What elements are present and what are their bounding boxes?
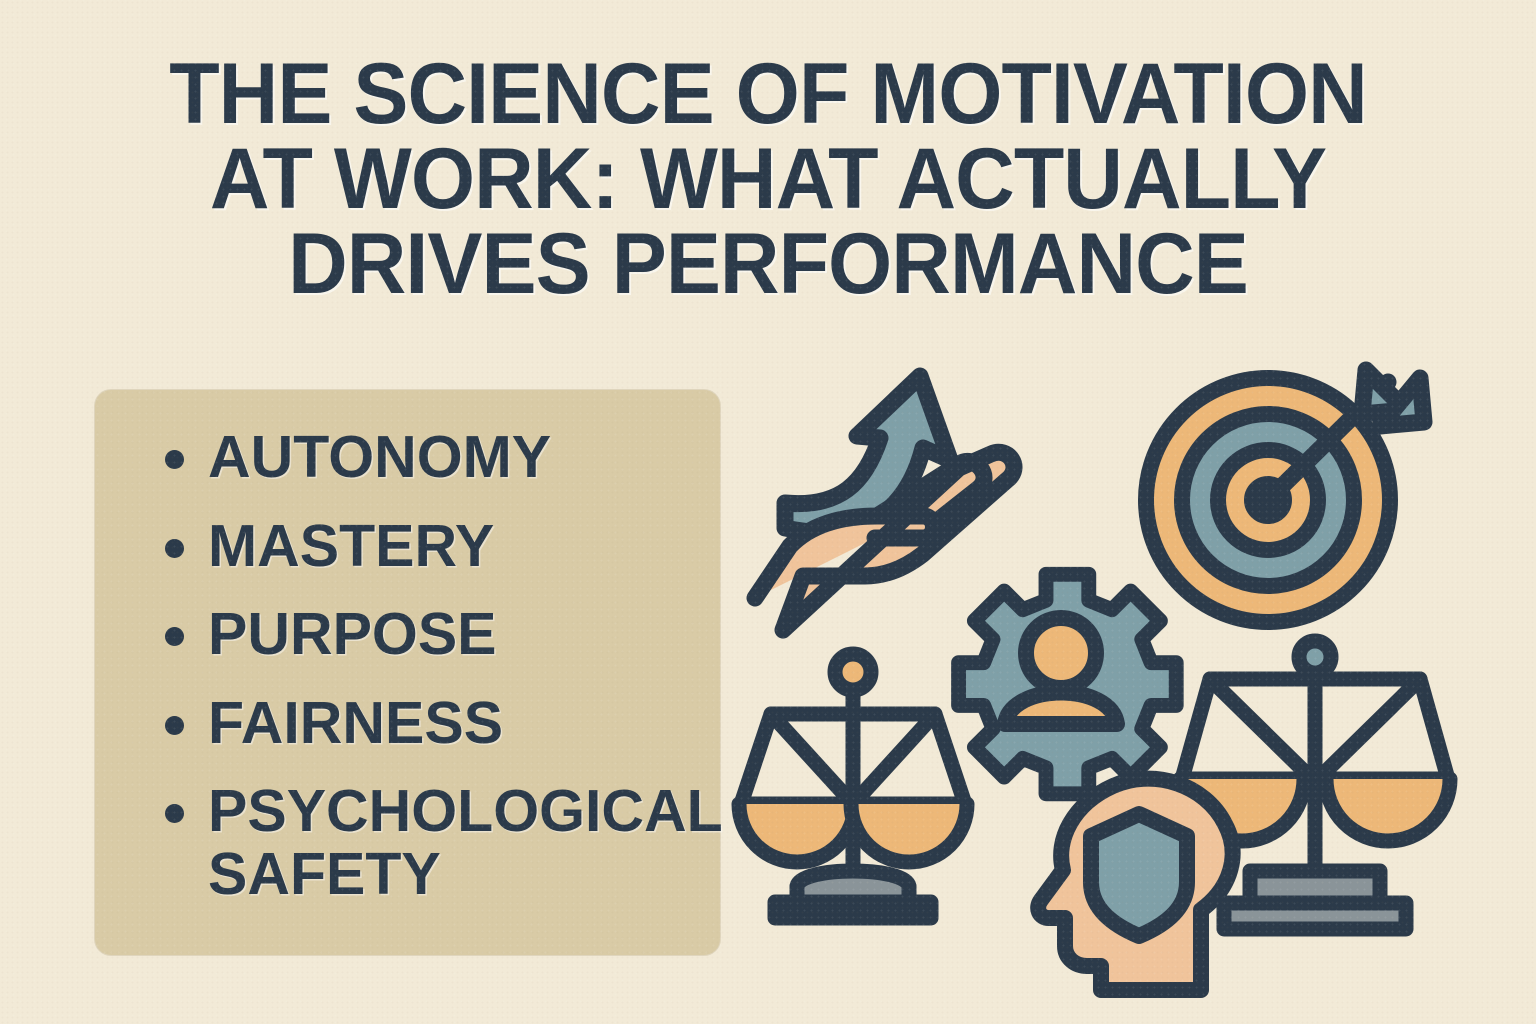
- bullet-dot-icon: [165, 716, 184, 735]
- infographic-poster: THE SCIENCE OF MOTIVATION AT WORK: WHAT …: [0, 0, 1536, 1024]
- bullet-dot-icon: [165, 627, 184, 646]
- page-title: THE SCIENCE OF MOTIVATION AT WORK: WHAT …: [0, 52, 1536, 307]
- list-item-label: PSYCHOLOGICAL SAFETY: [208, 780, 722, 905]
- bullet-dot-icon: [165, 450, 184, 469]
- list-item-label: AUTONOMY: [208, 426, 551, 489]
- list-item: PSYCHOLOGICAL SAFETY: [165, 780, 706, 905]
- list-item-label: MASTERY: [208, 515, 494, 578]
- list-item: FAIRNESS: [165, 692, 706, 755]
- title-line-2: AT WORK: WHAT ACTUALLY: [31, 137, 1506, 222]
- key-drivers-panel: AUTONOMY MASTERY PURPOSE FAIRNESS PSYCHO…: [95, 390, 720, 955]
- title-line-3: DRIVES PERFORMANCE: [31, 222, 1506, 307]
- list-item-label: FAIRNESS: [208, 692, 503, 755]
- icon-cluster: [735, 360, 1525, 1005]
- list-item-label: PURPOSE: [208, 603, 497, 666]
- bullet-dot-icon: [165, 539, 184, 558]
- balance-scale-icon: [735, 640, 995, 930]
- list-item: PURPOSE: [165, 603, 706, 666]
- list-item: MASTERY: [165, 515, 706, 578]
- list-item: AUTONOMY: [165, 426, 706, 489]
- bullet-dot-icon: [165, 804, 184, 823]
- title-line-1: THE SCIENCE OF MOTIVATION: [31, 52, 1506, 137]
- head-with-shield-icon: [1035, 770, 1255, 1000]
- key-drivers-list: AUTONOMY MASTERY PURPOSE FAIRNESS PSYCHO…: [165, 426, 706, 905]
